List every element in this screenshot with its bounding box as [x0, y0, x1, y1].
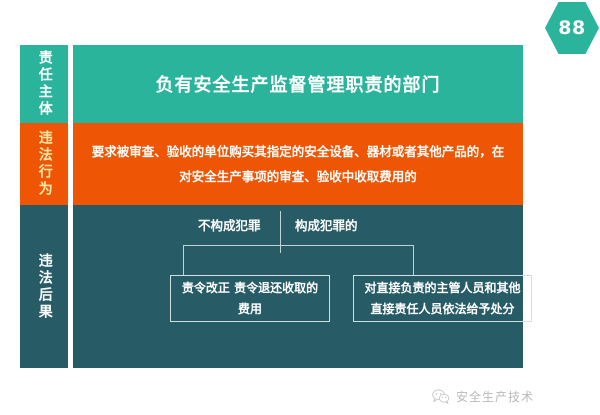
footer-text: 安全生产技术: [456, 388, 534, 405]
outcome-box-no-crime-text: 责令改正 责令退还收取的费用: [179, 278, 321, 320]
branch-drop-right: [413, 245, 414, 275]
branch-horizontal-connector: [183, 245, 414, 246]
page-number-text: 88: [545, 2, 599, 54]
band-act: 要求被审查、验收的单位购买其指定的安全设备、器材或者其他产品的，在对安全生产事项…: [73, 123, 523, 205]
outcome-box-crime: 对直接负责的主管人员和其他直接责任人员依法给予处分: [353, 275, 532, 322]
branch-divider-line: [280, 211, 281, 241]
outcome-box-crime-text: 对直接负责的主管人员和其他直接责任人员依法给予处分: [362, 278, 523, 320]
branch-label-no-crime: 不构成犯罪: [198, 215, 261, 234]
row-label-column: 责任主体 违法行为 违法后果: [20, 45, 68, 368]
band-subject: 负有安全生产监督管理职责的部门: [73, 45, 523, 123]
row-content-column: 负有安全生产监督管理职责的部门 要求被审查、验收的单位购买其指定的安全设备、器材…: [73, 45, 523, 368]
band-result: 不构成犯罪 构成犯罪的 责令改正 责令退还收取的费用 对直接负责的主管人员和其他…: [73, 205, 523, 368]
responsibility-chart: 责任主体 违法行为 违法后果 负有安全生产监督管理职责的部门 要求被审查、验收的…: [20, 45, 523, 368]
row-label-subject-text: 责任主体: [36, 50, 51, 118]
page-number-badge: 88: [545, 2, 599, 54]
row-label-act: 违法行为: [20, 123, 68, 205]
slide-canvas: 88 责任主体 违法行为 违法后果 负有安全生产监督管理职责的部门 要求被审查、…: [0, 0, 600, 415]
branch-stem-line: [280, 241, 281, 253]
wechat-icon: [432, 389, 450, 404]
branch-label-group: 不构成犯罪 构成犯罪的: [73, 215, 523, 237]
outcome-box-no-crime: 责令改正 责令退还收取的费用: [170, 275, 330, 322]
branch-label-crime: 构成犯罪的: [295, 215, 358, 234]
row-label-result: 违法后果: [20, 205, 68, 368]
band-subject-text: 负有安全生产监督管理职责的部门: [156, 71, 441, 97]
band-act-text: 要求被审查、验收的单位购买其指定的安全设备、器材或者其他产品的，在对安全生产事项…: [91, 139, 505, 189]
row-label-act-text: 违法行为: [36, 130, 51, 198]
row-label-subject: 责任主体: [20, 45, 68, 123]
branch-drop-left: [183, 245, 184, 275]
row-label-result-text: 违法后果: [36, 253, 51, 321]
footer-watermark: 安全生产技术: [432, 386, 587, 406]
